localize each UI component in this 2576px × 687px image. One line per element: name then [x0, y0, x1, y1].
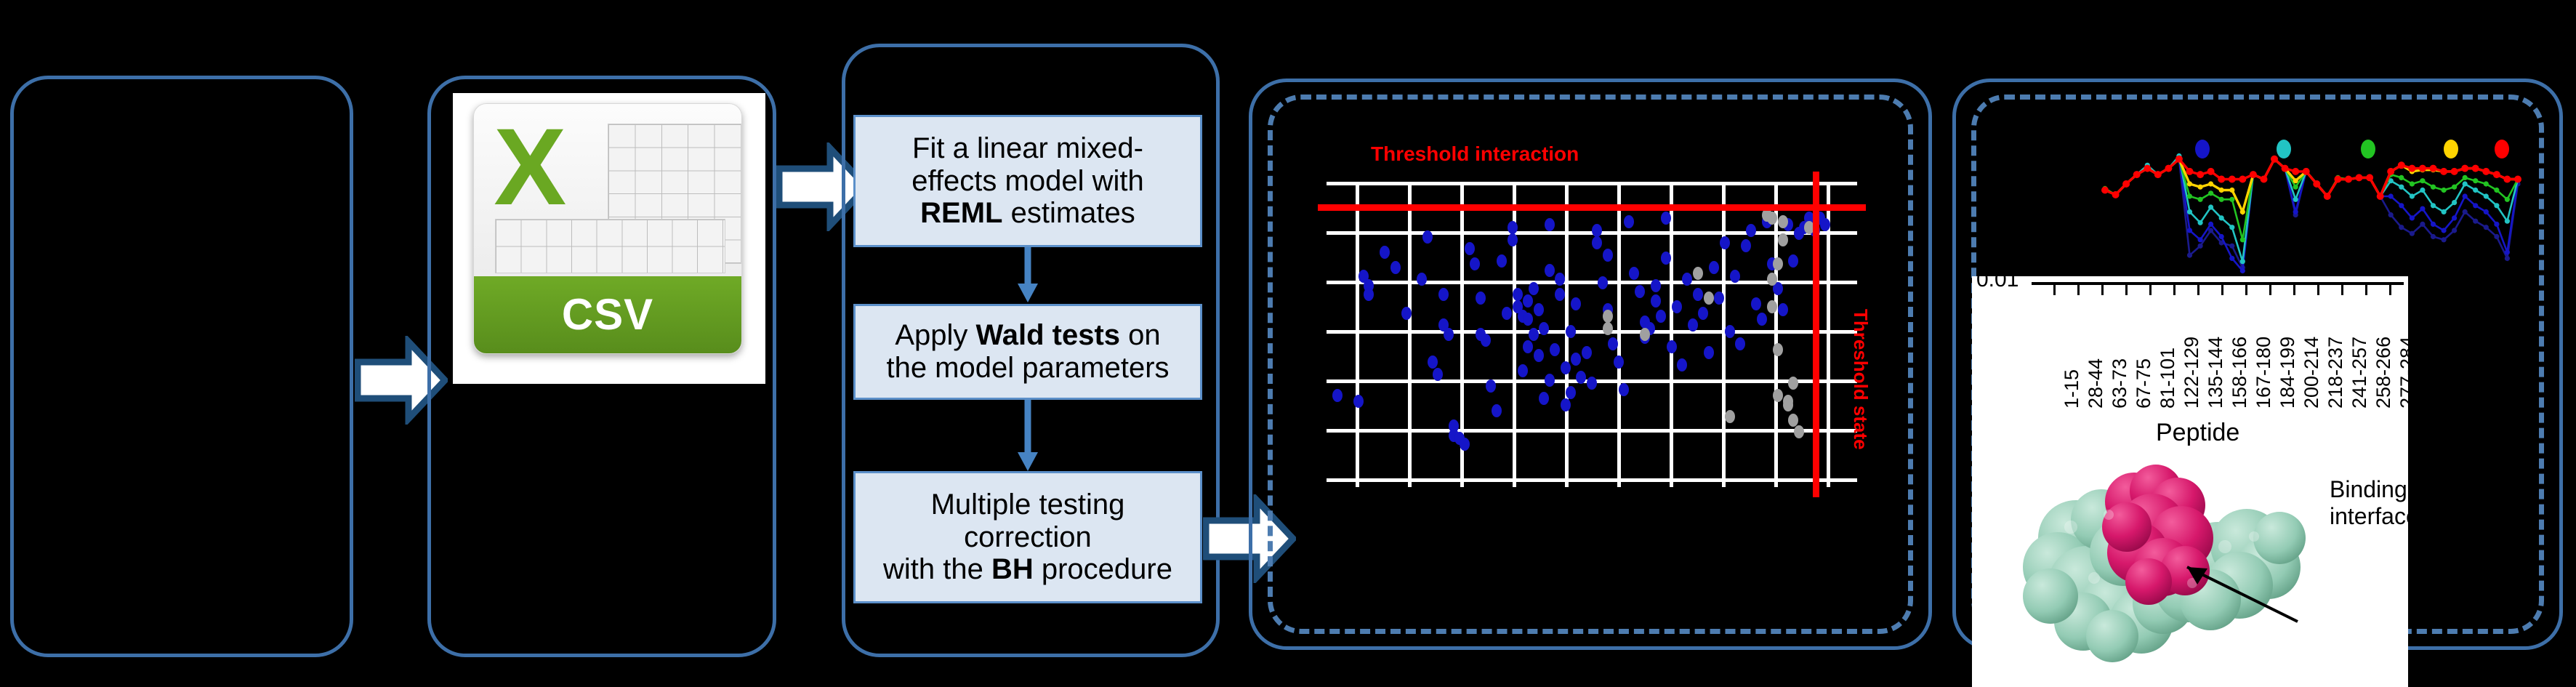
- scatter-dot: [1693, 267, 1703, 280]
- scatter-dot: [1773, 257, 1783, 270]
- scatter-dot: [1545, 374, 1555, 387]
- x-axis-tick-label: 184-199: [2277, 337, 2299, 409]
- scatter-dot: [1401, 307, 1412, 320]
- peptide-series-marker: [2198, 220, 2203, 225]
- peptide-series-marker: [2197, 171, 2204, 178]
- peptide-series-marker: [2514, 176, 2521, 183]
- line-2: correction: [964, 521, 1092, 553]
- scatter-dot: [1592, 236, 1602, 249]
- peptide-series-marker: [2219, 215, 2224, 220]
- scatter-dot: [1566, 386, 1576, 399]
- scatter-dot: [1529, 282, 1539, 295]
- peptide-series-marker: [2293, 209, 2298, 214]
- scatter-dot: [1545, 218, 1555, 231]
- line-1: Multiple testing: [931, 489, 1125, 521]
- peptide-series-marker: [2420, 178, 2425, 183]
- process-step-bh[interactable]: Multiple testing correction with the BH …: [853, 471, 1202, 603]
- scatter-dot: [1513, 288, 1523, 301]
- peptide-series-marker: [2451, 168, 2458, 175]
- scatter-dot: [1587, 377, 1597, 390]
- peptide-series-marker: [2463, 193, 2468, 198]
- peptide-series-marker: [2420, 222, 2425, 227]
- scatter-dot: [1481, 334, 1491, 347]
- line-3b-bold: BH: [991, 553, 1034, 585]
- scatter-dot: [1523, 294, 1533, 308]
- peptide-series-marker: [2463, 175, 2468, 180]
- peptide-series-marker: [2187, 193, 2192, 198]
- scatter-dot: [1523, 340, 1533, 353]
- scatter-dot: [1704, 292, 1714, 305]
- scatter-dot: [1603, 310, 1613, 323]
- scatter-dot: [1704, 346, 1714, 359]
- scatter-dot: [1529, 328, 1539, 341]
- peptide-series-marker: [2410, 181, 2415, 186]
- legend-dot-cyan: [2277, 140, 2291, 158]
- peptide-series-marker: [2463, 181, 2468, 186]
- peptide-series-marker: [2419, 165, 2426, 172]
- scatter-dot: [1444, 328, 1454, 341]
- scatter-dot: [1635, 285, 1645, 298]
- scatter-dot: [1582, 346, 1592, 359]
- peptide-series-marker: [2112, 191, 2120, 198]
- line-3a: with the: [883, 553, 991, 585]
- peptide-series-marker: [2442, 209, 2447, 214]
- excel-x-glyph: X: [485, 109, 576, 224]
- x-axis-tick: [2173, 285, 2175, 295]
- scatter-dot: [1380, 246, 1390, 259]
- x-axis-tick: [2245, 285, 2247, 295]
- scatter-dot: [1539, 392, 1549, 405]
- scatter-dot: [1714, 292, 1724, 305]
- peptide-series-marker: [2484, 225, 2489, 230]
- x-axis-tick-label: 158-166: [2229, 337, 2251, 409]
- peptide-series-marker: [2420, 206, 2425, 212]
- threshold-state-line: [1813, 172, 1819, 497]
- caption-line-2: interface: [2330, 503, 2408, 530]
- peptide-series-marker: [2505, 197, 2510, 202]
- x-axis-tick: [2221, 285, 2223, 295]
- peptide-series-marker: [2229, 197, 2234, 202]
- scatter-dot: [1390, 261, 1401, 274]
- peptide-series-marker: [2408, 165, 2415, 172]
- process-step-wald[interactable]: Apply Wald tests on the model parameters: [853, 304, 1202, 400]
- peptide-series-marker: [2431, 234, 2436, 239]
- scatter-dot: [1539, 322, 1549, 335]
- x-axis-tick-label: 135-144: [2205, 337, 2227, 409]
- scatter-dot: [1603, 322, 1613, 335]
- csv-band-label: CSV: [474, 276, 741, 353]
- peptide-series-marker: [2463, 209, 2468, 214]
- scatter-dot: [1651, 279, 1661, 292]
- x-axis-tick: [2365, 285, 2367, 295]
- scatter-dot: [1778, 303, 1788, 316]
- scatter-dot: [1555, 288, 1565, 301]
- scatter-dot: [1465, 242, 1475, 255]
- peptide-series-marker: [2187, 253, 2192, 258]
- peptide-series-marker: [2207, 168, 2215, 175]
- scatter-dot: [1773, 343, 1783, 356]
- scatter-dot: [1682, 273, 1692, 286]
- scatter-dot: [1561, 361, 1571, 374]
- scatter-dot: [1523, 313, 1533, 326]
- scatter-dot: [1422, 230, 1433, 244]
- scatter-dot: [1661, 212, 1671, 225]
- scatter-dot: [1614, 355, 1624, 369]
- peptide-series-marker: [2399, 203, 2404, 208]
- line-2: effects model with: [911, 165, 1143, 197]
- peptide-series-marker: [2442, 228, 2447, 233]
- peptide-series-marker: [2122, 180, 2130, 188]
- peptide-series-marker: [2208, 228, 2213, 233]
- peptide-series-marker: [2293, 185, 2298, 190]
- scatter-dot: [1820, 218, 1830, 231]
- peptide-series-marker: [2442, 237, 2447, 242]
- peptide-series-marker: [2219, 188, 2224, 193]
- scatter-dot: [1778, 215, 1788, 228]
- peptide-series-marker: [2250, 171, 2257, 178]
- peptide-series-marker: [2420, 188, 2425, 193]
- peptide-series-marker: [2187, 209, 2192, 214]
- scatter-dot: [1746, 224, 1756, 237]
- peptide-series-marker: [2452, 215, 2457, 220]
- peptide-series-marker: [2324, 193, 2331, 200]
- peptide-series-marker: [2482, 168, 2490, 175]
- peptide-series-marker: [2505, 249, 2510, 254]
- scatter-dot: [1486, 379, 1496, 393]
- peptide-series-marker: [2303, 168, 2310, 175]
- scatter-dot: [1693, 288, 1703, 301]
- scatter-dot: [1545, 264, 1555, 277]
- x-axis-tick-label: 218-237: [2325, 337, 2347, 409]
- peptide-series-marker: [2208, 190, 2213, 196]
- x-axis-tick-label: 28-44: [2085, 358, 2107, 409]
- peptide-series-marker: [2461, 165, 2468, 172]
- volcano-scatter-plot: [1327, 182, 1857, 487]
- scatter-dot: [1502, 307, 1512, 320]
- peptide-series-marker: [2229, 188, 2234, 193]
- peptide-series-marker: [2240, 268, 2245, 273]
- scatter-dot: [1555, 273, 1565, 286]
- threshold-interaction-label: Threshold interaction: [1371, 142, 1579, 166]
- x-axis-tick-label: 258-266: [2372, 337, 2395, 409]
- scatter-dot: [1757, 313, 1767, 326]
- peptide-series-marker: [2198, 185, 2203, 190]
- line-1b-bold: Wald tests: [976, 319, 1121, 351]
- peptide-series-marker: [2366, 174, 2373, 181]
- peptide-series-marker: [2261, 176, 2268, 183]
- csv-file-icon: X CSV: [473, 103, 742, 354]
- scatter-dot: [1353, 395, 1364, 408]
- scatter-dot: [1651, 294, 1661, 308]
- scatter-dot: [1492, 404, 1502, 417]
- x-axis-tick-label: 67-75: [2133, 358, 2155, 409]
- scatter-dot: [1725, 410, 1735, 423]
- scatter-dot: [1438, 288, 1449, 301]
- peptide-series-marker: [2293, 197, 2298, 202]
- peptide-series-marker: [2229, 244, 2234, 249]
- scatter-dot: [1470, 257, 1480, 270]
- legend-dot-green: [2361, 140, 2375, 158]
- process-step-reml[interactable]: Fit a linear mixed- effects model with R…: [853, 115, 1202, 247]
- peptide-series-marker: [2101, 187, 2109, 194]
- line-2: the model parameters: [886, 352, 1169, 384]
- peptide-series-marker: [2175, 156, 2183, 163]
- connector-wald-to-bh: [1015, 400, 1040, 473]
- scatter-dot: [1476, 292, 1486, 305]
- x-axis-tick: [2197, 285, 2199, 295]
- scatter-dot: [1640, 328, 1650, 341]
- legend-dot-blue: [2195, 140, 2210, 158]
- scatter-dot: [1460, 438, 1470, 451]
- peptide-series-marker: [2452, 200, 2457, 205]
- peptide-series-marker: [2377, 193, 2384, 200]
- scatter-dot: [1566, 325, 1576, 338]
- peptide-series-marker: [2239, 176, 2246, 183]
- line-1a: Apply: [895, 319, 975, 351]
- flowchart-canvas: X CSV Fit a linear mixed- effects model …: [0, 0, 2576, 687]
- peptide-series-marker: [2208, 181, 2213, 186]
- x-axis-tick-label: 122-129: [2181, 337, 2203, 409]
- peptide-series-marker: [2219, 234, 2224, 239]
- peptide-series-marker: [2494, 188, 2499, 193]
- peptide-series-marker: [2473, 203, 2478, 208]
- peptide-series-marker: [2452, 185, 2457, 190]
- peptide-series-line: [2105, 159, 2518, 196]
- peptide-series-marker: [2399, 185, 2404, 190]
- peptide-series-marker: [2144, 165, 2151, 172]
- x-axis-tick: [2341, 285, 2343, 295]
- peptide-series-marker: [2430, 165, 2437, 172]
- peptide-series-marker: [2345, 176, 2352, 183]
- peptide-series-marker: [2356, 174, 2363, 181]
- peptide-series-marker: [2240, 209, 2245, 214]
- peptide-series-marker: [2334, 176, 2341, 183]
- caption-line-1: Binding: [2330, 476, 2408, 503]
- scatter-dot: [1619, 383, 1629, 396]
- scatter-dot: [1741, 239, 1751, 252]
- peptide-series-marker: [2442, 188, 2447, 193]
- peptide-series-marker: [2187, 228, 2192, 233]
- scatter-dot: [1417, 273, 1427, 286]
- x-axis-tick: [2077, 285, 2080, 295]
- scatter-dot: [1518, 364, 1528, 377]
- peptide-series-marker: [2186, 168, 2194, 175]
- scatter-dot: [1677, 358, 1687, 371]
- peptide-series-marker: [2410, 215, 2415, 220]
- scatter-dot: [1788, 254, 1798, 268]
- csv-file-card: X CSV: [453, 93, 765, 384]
- peptide-series-marker: [2494, 222, 2499, 227]
- x-axis-tick: [2125, 285, 2128, 295]
- line-3c: procedure: [1034, 553, 1172, 585]
- x-axis-title: Peptide: [2156, 419, 2239, 447]
- peptide-series-marker: [2484, 181, 2489, 186]
- peptide-series-marker: [2503, 176, 2511, 183]
- scatter-dot: [1603, 249, 1613, 262]
- peptide-series-marker: [2154, 171, 2162, 178]
- scatter-dot: [1730, 270, 1740, 283]
- peptide-series-marker: [2240, 259, 2245, 264]
- peptide-series-marker: [2313, 180, 2320, 188]
- line-3-bold: REML: [920, 197, 1002, 229]
- peptide-series-marker: [2292, 168, 2299, 175]
- scatter-dot: [1571, 353, 1581, 366]
- peptide-series-marker: [2440, 168, 2447, 175]
- scatter-dot: [1608, 337, 1618, 350]
- peptide-series-marker: [2484, 193, 2489, 198]
- peptide-series-marker: [2493, 171, 2500, 178]
- peptide-series-marker: [2473, 188, 2478, 193]
- process-step-bh-text: Multiple testing correction with the BH …: [883, 489, 1172, 586]
- scatter-dot: [1508, 221, 1518, 234]
- peptide-series-marker: [2484, 209, 2489, 214]
- line-3-rest: estimates: [1003, 197, 1135, 229]
- scatter-dot: [1592, 224, 1602, 237]
- protein-surface-svg: [2007, 451, 2334, 669]
- peptide-series-marker: [2494, 203, 2499, 208]
- peptide-series-marker: [2431, 222, 2436, 227]
- scatter-dot: [1550, 343, 1560, 356]
- x-axis-tick-label: 167-180: [2253, 337, 2275, 409]
- peptide-series-marker: [2473, 219, 2478, 224]
- x-axis-tick: [2101, 285, 2104, 295]
- x-axis-tick-label: 277-284: [2396, 337, 2408, 409]
- scatter-dot: [1773, 389, 1783, 402]
- scatter-dot: [1788, 377, 1798, 390]
- scatter-dot: [1428, 355, 1438, 369]
- peptide-series-marker: [2431, 203, 2436, 208]
- peptide-series-marker: [2198, 237, 2203, 242]
- scatter-dot: [1364, 288, 1374, 301]
- scatter-dot: [1794, 425, 1804, 438]
- peptide-series-marker: [2293, 178, 2298, 183]
- panel-1: [10, 76, 353, 657]
- peptide-series-marker: [2208, 204, 2213, 209]
- scatter-dot: [1598, 276, 1608, 289]
- peptide-series-marker: [2410, 193, 2415, 198]
- scatter-dot: [1661, 252, 1671, 265]
- scatter-dot: [1508, 233, 1518, 246]
- scatter-dot: [1788, 414, 1798, 427]
- peptide-series-marker: [2133, 171, 2141, 178]
- scatter-dot: [1767, 300, 1777, 313]
- peptide-series-marker: [2399, 175, 2404, 180]
- peptide-series-marker: [2198, 244, 2203, 249]
- scatter-dot: [1720, 236, 1730, 249]
- x-axis-tick-label: 63-73: [2109, 358, 2131, 409]
- threshold-interaction-line: [1318, 204, 1866, 211]
- scatter-dot: [1783, 398, 1793, 411]
- peptide-series-marker: [2282, 165, 2289, 172]
- process-step-reml-text: Fit a linear mixed- effects model with R…: [911, 132, 1143, 230]
- x-axis-tick: [2269, 285, 2271, 295]
- peptide-series-marker: [2410, 231, 2415, 236]
- peptide-series-marker: [2229, 225, 2234, 230]
- peptide-series-marker: [2505, 219, 2510, 224]
- scatter-dot: [1561, 398, 1571, 411]
- peptide-series-marker: [2388, 193, 2394, 198]
- protein-structure-figure: [2007, 451, 2334, 669]
- peptide-series-marker: [2431, 185, 2436, 190]
- line-1: Fit a linear mixed-: [912, 132, 1143, 164]
- x-axis-tick: [2053, 285, 2056, 295]
- scatter-dot: [1735, 337, 1745, 350]
- x-axis-tick-label: 200-214: [2301, 337, 2323, 409]
- connector-reml-to-wald: [1015, 247, 1040, 304]
- x-axis-tick: [2317, 285, 2319, 295]
- peptide-series-marker: [2399, 225, 2404, 230]
- peptide-series-marker: [2208, 222, 2213, 227]
- line-1c: on: [1120, 319, 1161, 351]
- peptide-series-marker: [2271, 156, 2278, 163]
- peptide-series-marker: [2229, 176, 2236, 183]
- scatter-dot: [1767, 212, 1777, 225]
- x-axis-tick-label: 1-15: [2061, 369, 2083, 409]
- binding-interface-caption: Binding interface: [2330, 476, 2408, 530]
- peptide-axis-and-structure-box: 0.01 1-1528-4463-7367-7581-101122-129135…: [1972, 276, 2408, 687]
- peptide-series-marker: [2219, 197, 2224, 202]
- scatter-dot: [1667, 340, 1677, 353]
- scatter-dot: [1778, 233, 1788, 246]
- peptide-series-marker: [2398, 161, 2405, 169]
- x-axis-tick: [2389, 285, 2391, 295]
- peptide-series-marker: [2165, 165, 2172, 172]
- peptide-series-marker: [2218, 176, 2225, 183]
- peptide-series-marker: [2452, 228, 2457, 233]
- peptide-series-marker: [2240, 237, 2245, 242]
- scatter-dot: [1332, 389, 1343, 402]
- peptide-series-marker: [2505, 256, 2510, 261]
- scatter-dot: [1751, 297, 1761, 310]
- scatter-dot: [1534, 349, 1544, 362]
- scatter-dot: [1534, 303, 1544, 316]
- x-axis-tick-label: 241-257: [2348, 337, 2371, 409]
- process-step-wald-text: Apply Wald tests on the model parameters: [886, 319, 1169, 385]
- scatter-dot: [1672, 300, 1682, 313]
- scatter-dot: [1698, 307, 1708, 320]
- x-axis-tick-label: 81-101: [2157, 347, 2179, 409]
- scatter-dot: [1497, 254, 1507, 268]
- peptide-series-marker: [2472, 165, 2479, 172]
- x-axis-tick: [2293, 285, 2295, 295]
- peptide-series-marker: [2387, 168, 2394, 175]
- peptide-series-marker: [2473, 178, 2478, 183]
- scatter-dot: [1725, 325, 1735, 338]
- threshold-state-label: Threshold state: [1849, 309, 1872, 450]
- legend-dot-red: [2495, 140, 2509, 158]
- scatter-dot: [1624, 215, 1634, 228]
- peptide-series-marker: [2388, 212, 2394, 217]
- legend-dot-yellow: [2444, 140, 2458, 158]
- x-axis-tick: [2149, 285, 2152, 295]
- scatter-dot: [1576, 371, 1586, 384]
- peptide-series-marker: [2229, 256, 2234, 261]
- scatter-dot: [1629, 267, 1639, 280]
- scatter-dot: [1688, 318, 1698, 332]
- scatter-dot: [1433, 368, 1443, 381]
- peptide-series-marker: [2187, 181, 2192, 186]
- peptide-series-marker: [2198, 197, 2203, 202]
- scatter-dot: [1571, 297, 1581, 310]
- scatter-dot: [1656, 310, 1666, 323]
- scatter-dot: [1709, 261, 1719, 274]
- peptide-series-marker: [2494, 234, 2499, 239]
- scatter-points-layer: [1327, 182, 1857, 487]
